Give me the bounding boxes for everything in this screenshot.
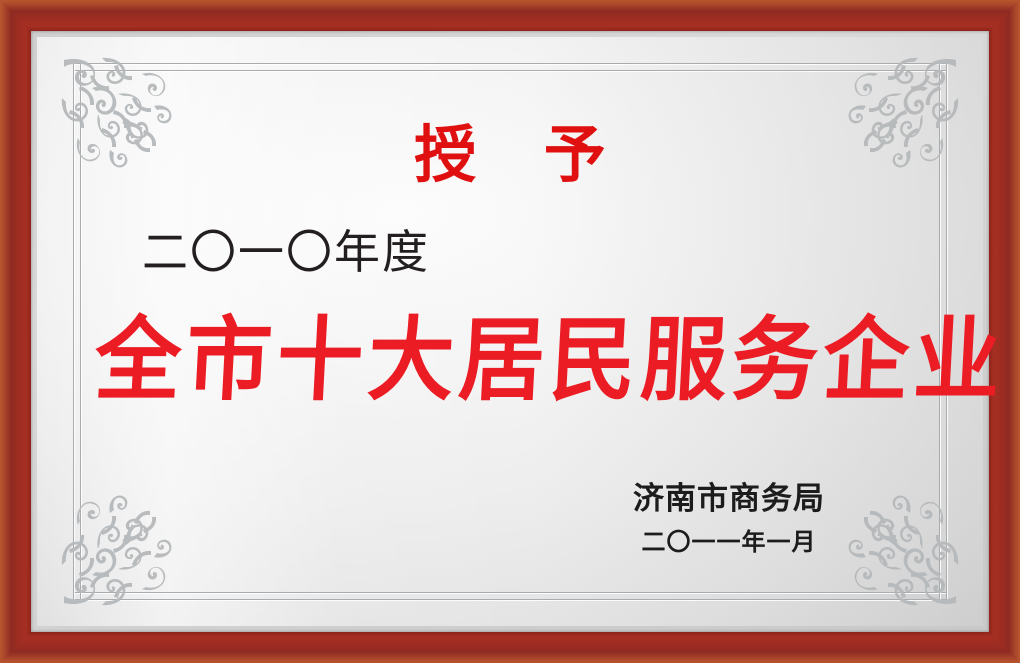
issuer-date: 二〇一一年一月 [604,529,854,558]
issuer-block: 济南市商务局 二〇一一年一月 [604,480,854,558]
issuer-name: 济南市商务局 [604,480,854,519]
frame-rail-top [0,0,1020,31]
award-title: 全市十大居民服务企业 [88,315,933,406]
frame-rail-left [0,0,31,663]
award-year: 二〇一〇年度 [142,230,430,276]
frame-rail-bottom [0,632,1020,663]
plaque-content: 授 予 二〇一〇年度 全市十大居民服务企业 济南市商务局 二〇一一年一月 [90,80,930,583]
award-verb: 授 予 [90,125,930,187]
award-plaque: 授 予 二〇一〇年度 全市十大居民服务企业 济南市商务局 二〇一一年一月 [0,0,1020,663]
